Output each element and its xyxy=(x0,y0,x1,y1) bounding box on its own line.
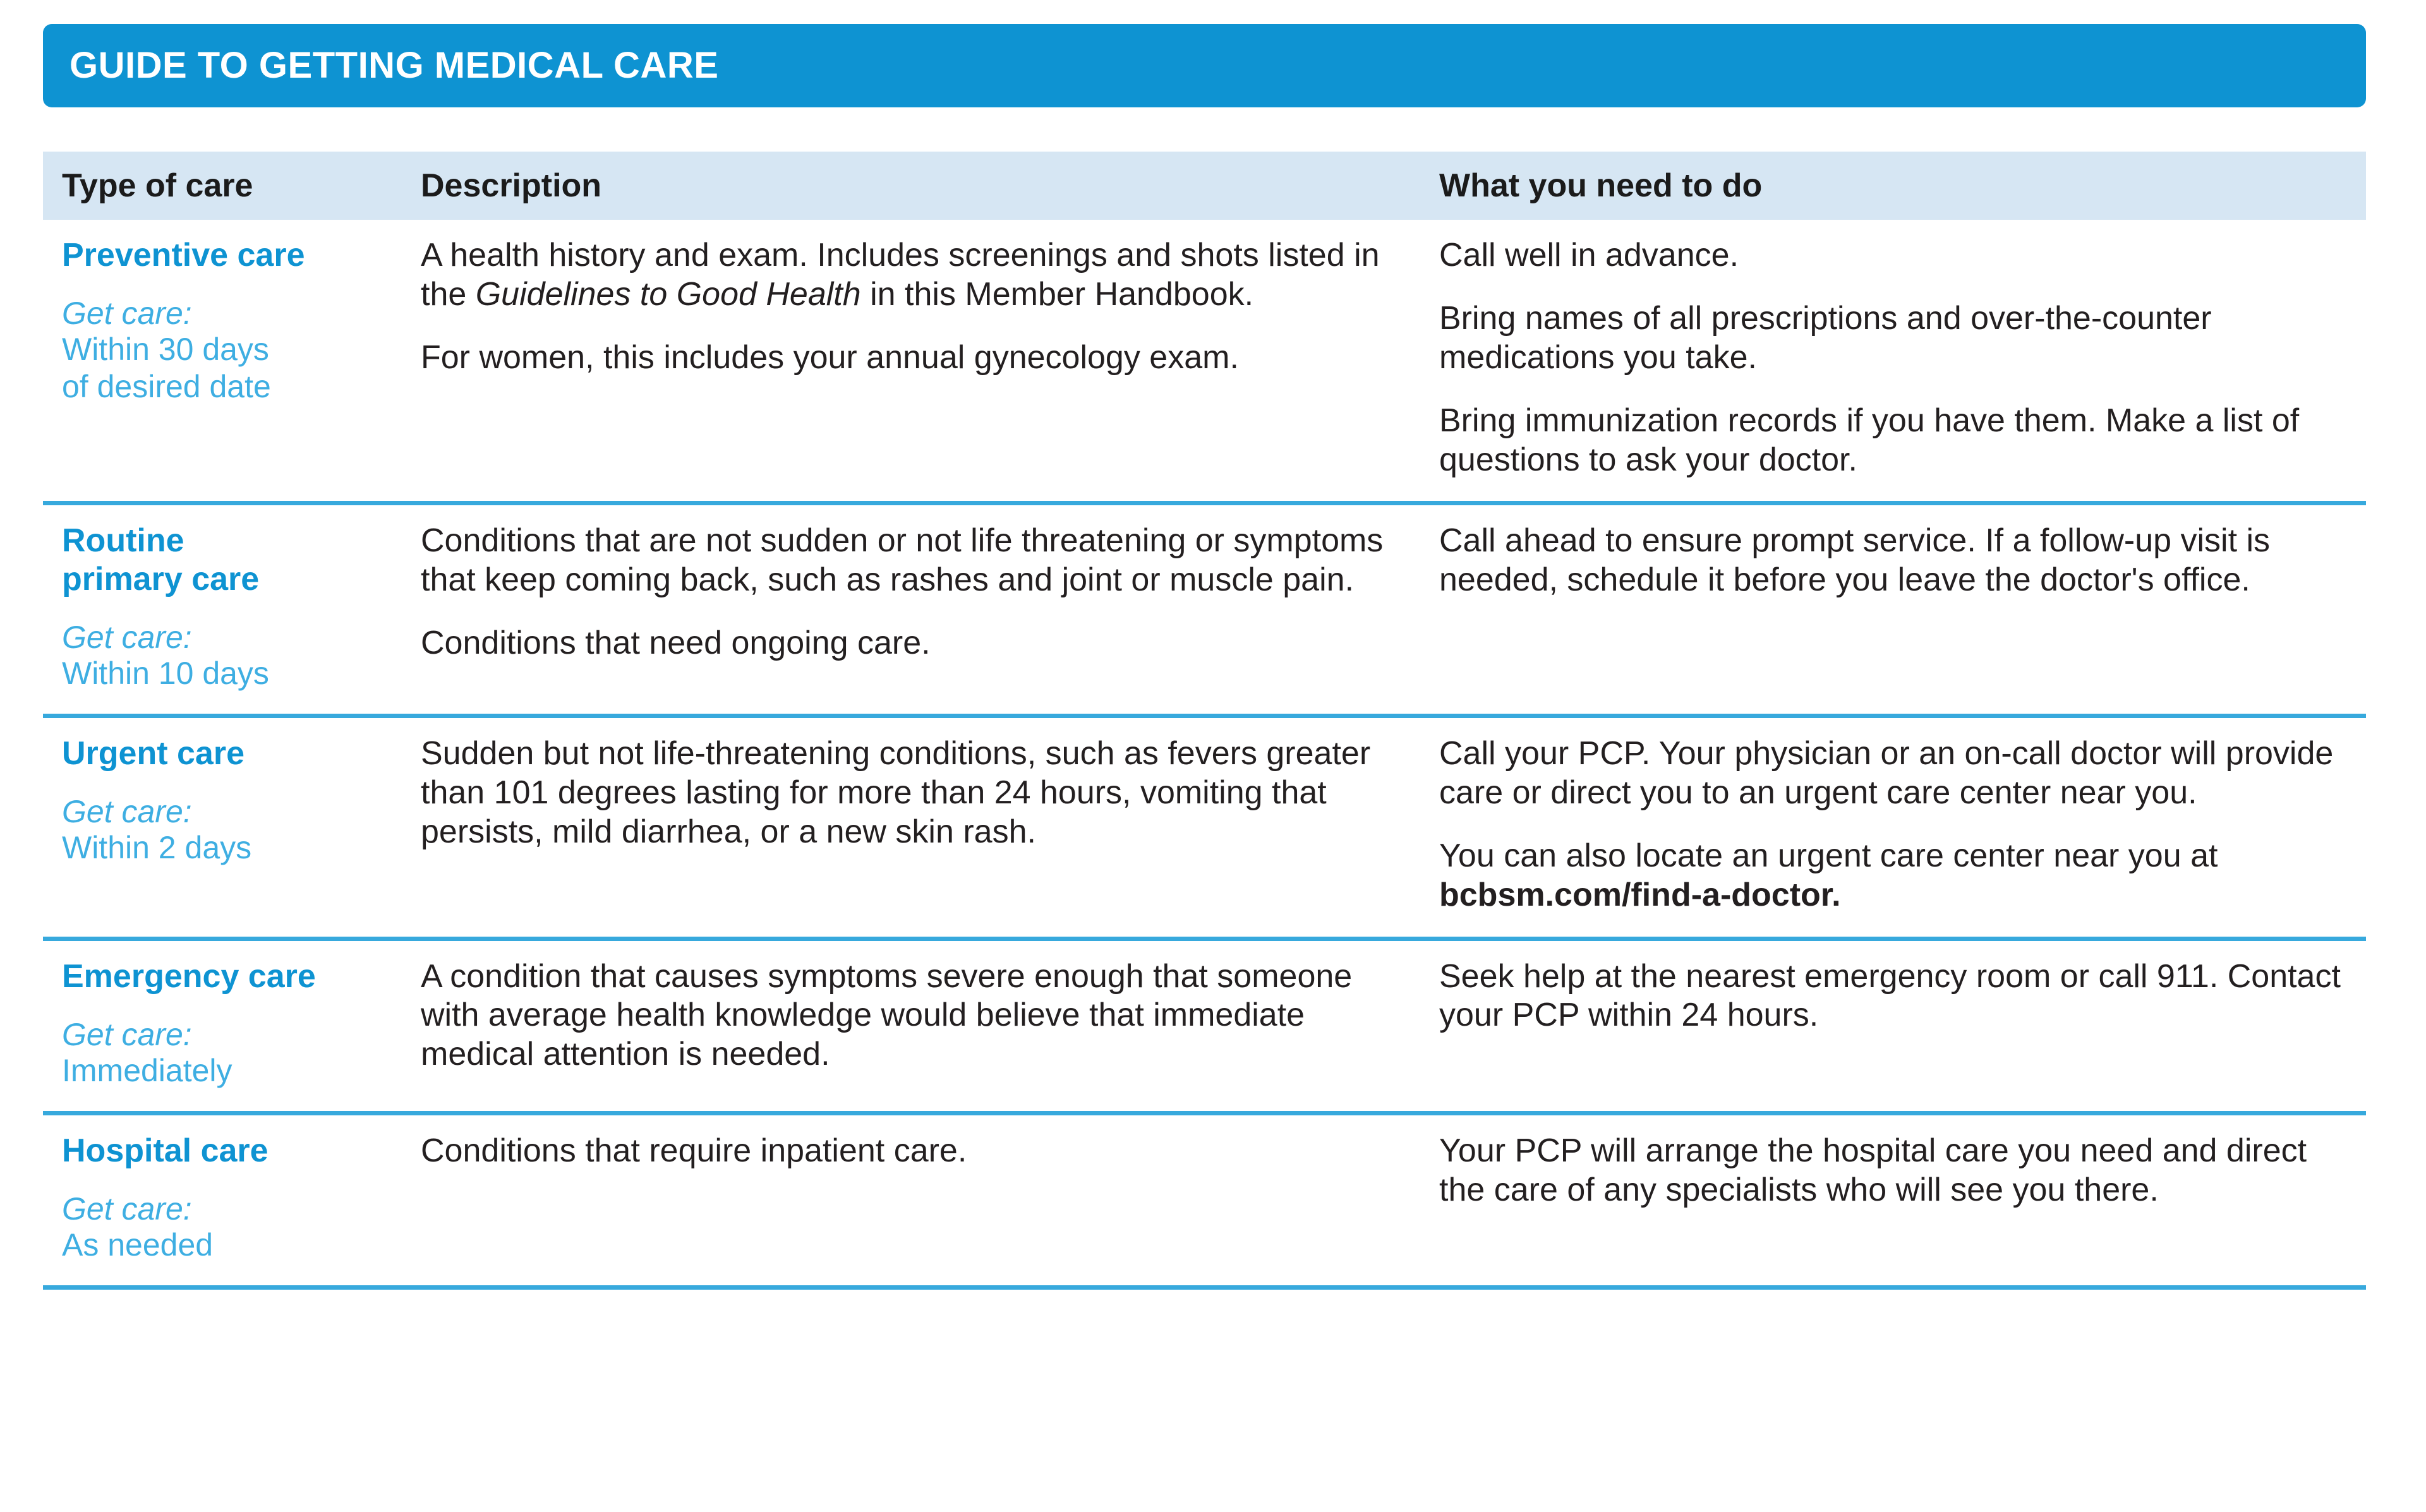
cell-what-you-need-to-do: Seek help at the nearest emergency room … xyxy=(1439,941,2366,1111)
action-paragraph: Bring immunization records if you have t… xyxy=(1439,402,2347,480)
description-paragraph: A condition that causes symptoms severe … xyxy=(421,957,1414,1075)
document-page: GUIDE TO GETTING MEDICAL CARE Type of ca… xyxy=(0,0,2426,1512)
table-body: Preventive careGet care:Within 30 days o… xyxy=(43,220,2366,1290)
cell-type-of-care: Routine primary careGet care:Within 10 d… xyxy=(43,505,397,714)
get-care-label: Get care: xyxy=(62,794,390,829)
cell-what-you-need-to-do: Call your PCP. Your physician or an on-c… xyxy=(1439,718,2366,937)
cell-what-you-need-to-do: Call well in advance.Bring names of all … xyxy=(1439,220,2366,501)
guide-title-banner: GUIDE TO GETTING MEDICAL CARE xyxy=(43,24,2366,107)
description-paragraph: For women, this includes your annual gyn… xyxy=(421,339,1414,378)
cell-description: Conditions that require inpatient care. xyxy=(397,1115,1439,1285)
cell-description: Sudden but not life-threatening conditio… xyxy=(397,718,1439,937)
cell-type-of-care: Emergency careGet care:Immediately xyxy=(43,941,397,1111)
cell-description: Conditions that are not sudden or not li… xyxy=(397,505,1439,714)
get-care-timeframe: Immediately xyxy=(62,1052,390,1089)
description-paragraph: Conditions that are not sudden or not li… xyxy=(421,522,1414,600)
care-type-name: Preventive care xyxy=(62,236,390,274)
description-paragraph: Sudden but not life-threatening conditio… xyxy=(421,735,1414,852)
cell-description: A condition that causes symptoms severe … xyxy=(397,941,1439,1111)
description-paragraph: A health history and exam. Includes scre… xyxy=(421,236,1414,315)
table-header-row: Type of care Description What you need t… xyxy=(43,152,2366,220)
table-row: Preventive careGet care:Within 30 days o… xyxy=(43,220,2366,505)
get-care-timeframe: Within 30 days of desired date xyxy=(62,331,390,405)
description-paragraph: Conditions that require inpatient care. xyxy=(421,1132,1414,1171)
table-row: Urgent careGet care:Within 2 daysSudden … xyxy=(43,718,2366,941)
cell-type-of-care: Urgent careGet care:Within 2 days xyxy=(43,718,397,937)
table-row: Routine primary careGet care:Within 10 d… xyxy=(43,505,2366,718)
cell-what-you-need-to-do: Your PCP will arrange the hospital care … xyxy=(1439,1115,2366,1285)
care-type-name: Hospital care xyxy=(62,1132,390,1170)
cell-type-of-care: Preventive careGet care:Within 30 days o… xyxy=(43,220,397,501)
column-header-what-you-need-to-do: What you need to do xyxy=(1439,169,2366,202)
get-care-label: Get care: xyxy=(62,620,390,655)
action-paragraph: Call your PCP. Your physician or an on-c… xyxy=(1439,735,2347,813)
column-header-description: Description xyxy=(397,169,1439,202)
get-care-label: Get care: xyxy=(62,296,390,331)
get-care-label: Get care: xyxy=(62,1191,390,1227)
get-care-label: Get care: xyxy=(62,1017,390,1052)
action-paragraph: Seek help at the nearest emergency room … xyxy=(1439,957,2347,1036)
action-paragraph: Call well in advance. xyxy=(1439,236,2347,275)
medical-care-guide-table: Type of care Description What you need t… xyxy=(43,152,2366,1290)
action-paragraph: Bring names of all prescriptions and ove… xyxy=(1439,299,2347,378)
page-title: GUIDE TO GETTING MEDICAL CARE xyxy=(69,47,718,84)
get-care-timeframe: Within 2 days xyxy=(62,829,390,867)
action-paragraph: You can also locate an urgent care cente… xyxy=(1439,837,2347,915)
action-paragraph: Call ahead to ensure prompt service. If … xyxy=(1439,522,2347,600)
care-type-name: Emergency care xyxy=(62,957,390,995)
table-row: Emergency careGet care:ImmediatelyA cond… xyxy=(43,941,2366,1115)
column-header-type-of-care: Type of care xyxy=(43,169,397,202)
get-care-timeframe: Within 10 days xyxy=(62,655,390,692)
care-type-name: Urgent care xyxy=(62,735,390,772)
cell-what-you-need-to-do: Call ahead to ensure prompt service. If … xyxy=(1439,505,2366,714)
get-care-timeframe: As needed xyxy=(62,1227,390,1264)
table-row: Hospital careGet care:As neededCondition… xyxy=(43,1115,2366,1290)
cell-description: A health history and exam. Includes scre… xyxy=(397,220,1439,501)
care-type-name: Routine primary care xyxy=(62,522,390,598)
description-paragraph: Conditions that need ongoing care. xyxy=(421,624,1414,663)
action-paragraph: Your PCP will arrange the hospital care … xyxy=(1439,1132,2347,1210)
cell-type-of-care: Hospital careGet care:As needed xyxy=(43,1115,397,1285)
